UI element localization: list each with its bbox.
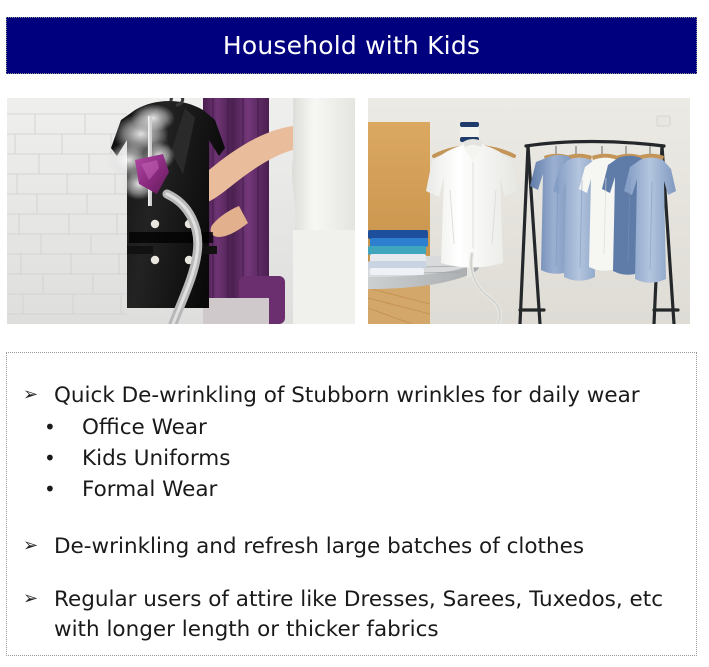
photo-steaming-jacket — [7, 98, 355, 324]
bullet-item-1-sublist: • Office Wear • Kids Uniforms • Formal W… — [21, 413, 686, 506]
steaming-jacket-illustration — [7, 98, 355, 324]
bullet-spacer — [21, 563, 686, 585]
arrow-bullet-icon: ➢ — [21, 532, 54, 560]
sub-bullet-formal-wear-text: Formal Wear — [82, 475, 686, 506]
garment-rack-illustration — [368, 98, 690, 324]
arrow-bullet-icon: ➢ — [21, 585, 54, 613]
photo-strip — [0, 98, 709, 324]
sub-bullet-kids-uniforms: • Kids Uniforms — [21, 444, 686, 475]
sub-bullet-office-wear: • Office Wear — [21, 413, 686, 444]
bullet-item-3: ➢ Regular users of attire like Dresses, … — [21, 585, 686, 644]
sub-bullet-formal-wear: • Formal Wear — [21, 475, 686, 506]
bullet-list: ➢ Quick De-wrinkling of Stubborn wrinkle… — [7, 353, 696, 646]
dot-bullet-icon: • — [44, 475, 82, 504]
bullet-item-2-text: De-wrinkling and refresh large batches o… — [54, 532, 686, 562]
slide-title-banner: Household with Kids — [6, 17, 697, 74]
bullet-panel: ➢ Quick De-wrinkling of Stubborn wrinkle… — [6, 352, 697, 656]
bullet-item-1: ➢ Quick De-wrinkling of Stubborn wrinkle… — [21, 381, 686, 411]
sub-bullet-office-wear-text: Office Wear — [82, 413, 686, 444]
bullet-spacer — [21, 506, 686, 532]
photo-garment-rack — [368, 98, 690, 324]
dot-bullet-icon: • — [44, 413, 82, 442]
page-title: Household with Kids — [223, 31, 480, 60]
bullet-item-2: ➢ De-wrinkling and refresh large batches… — [21, 532, 686, 562]
bullet-item-3-text: Regular users of attire like Dresses, Sa… — [54, 585, 686, 644]
dot-bullet-icon: • — [44, 444, 82, 473]
bullet-item-1-text: Quick De-wrinkling of Stubborn wrinkles … — [54, 381, 686, 411]
sub-bullet-kids-uniforms-text: Kids Uniforms — [82, 444, 686, 475]
arrow-bullet-icon: ➢ — [21, 381, 54, 409]
